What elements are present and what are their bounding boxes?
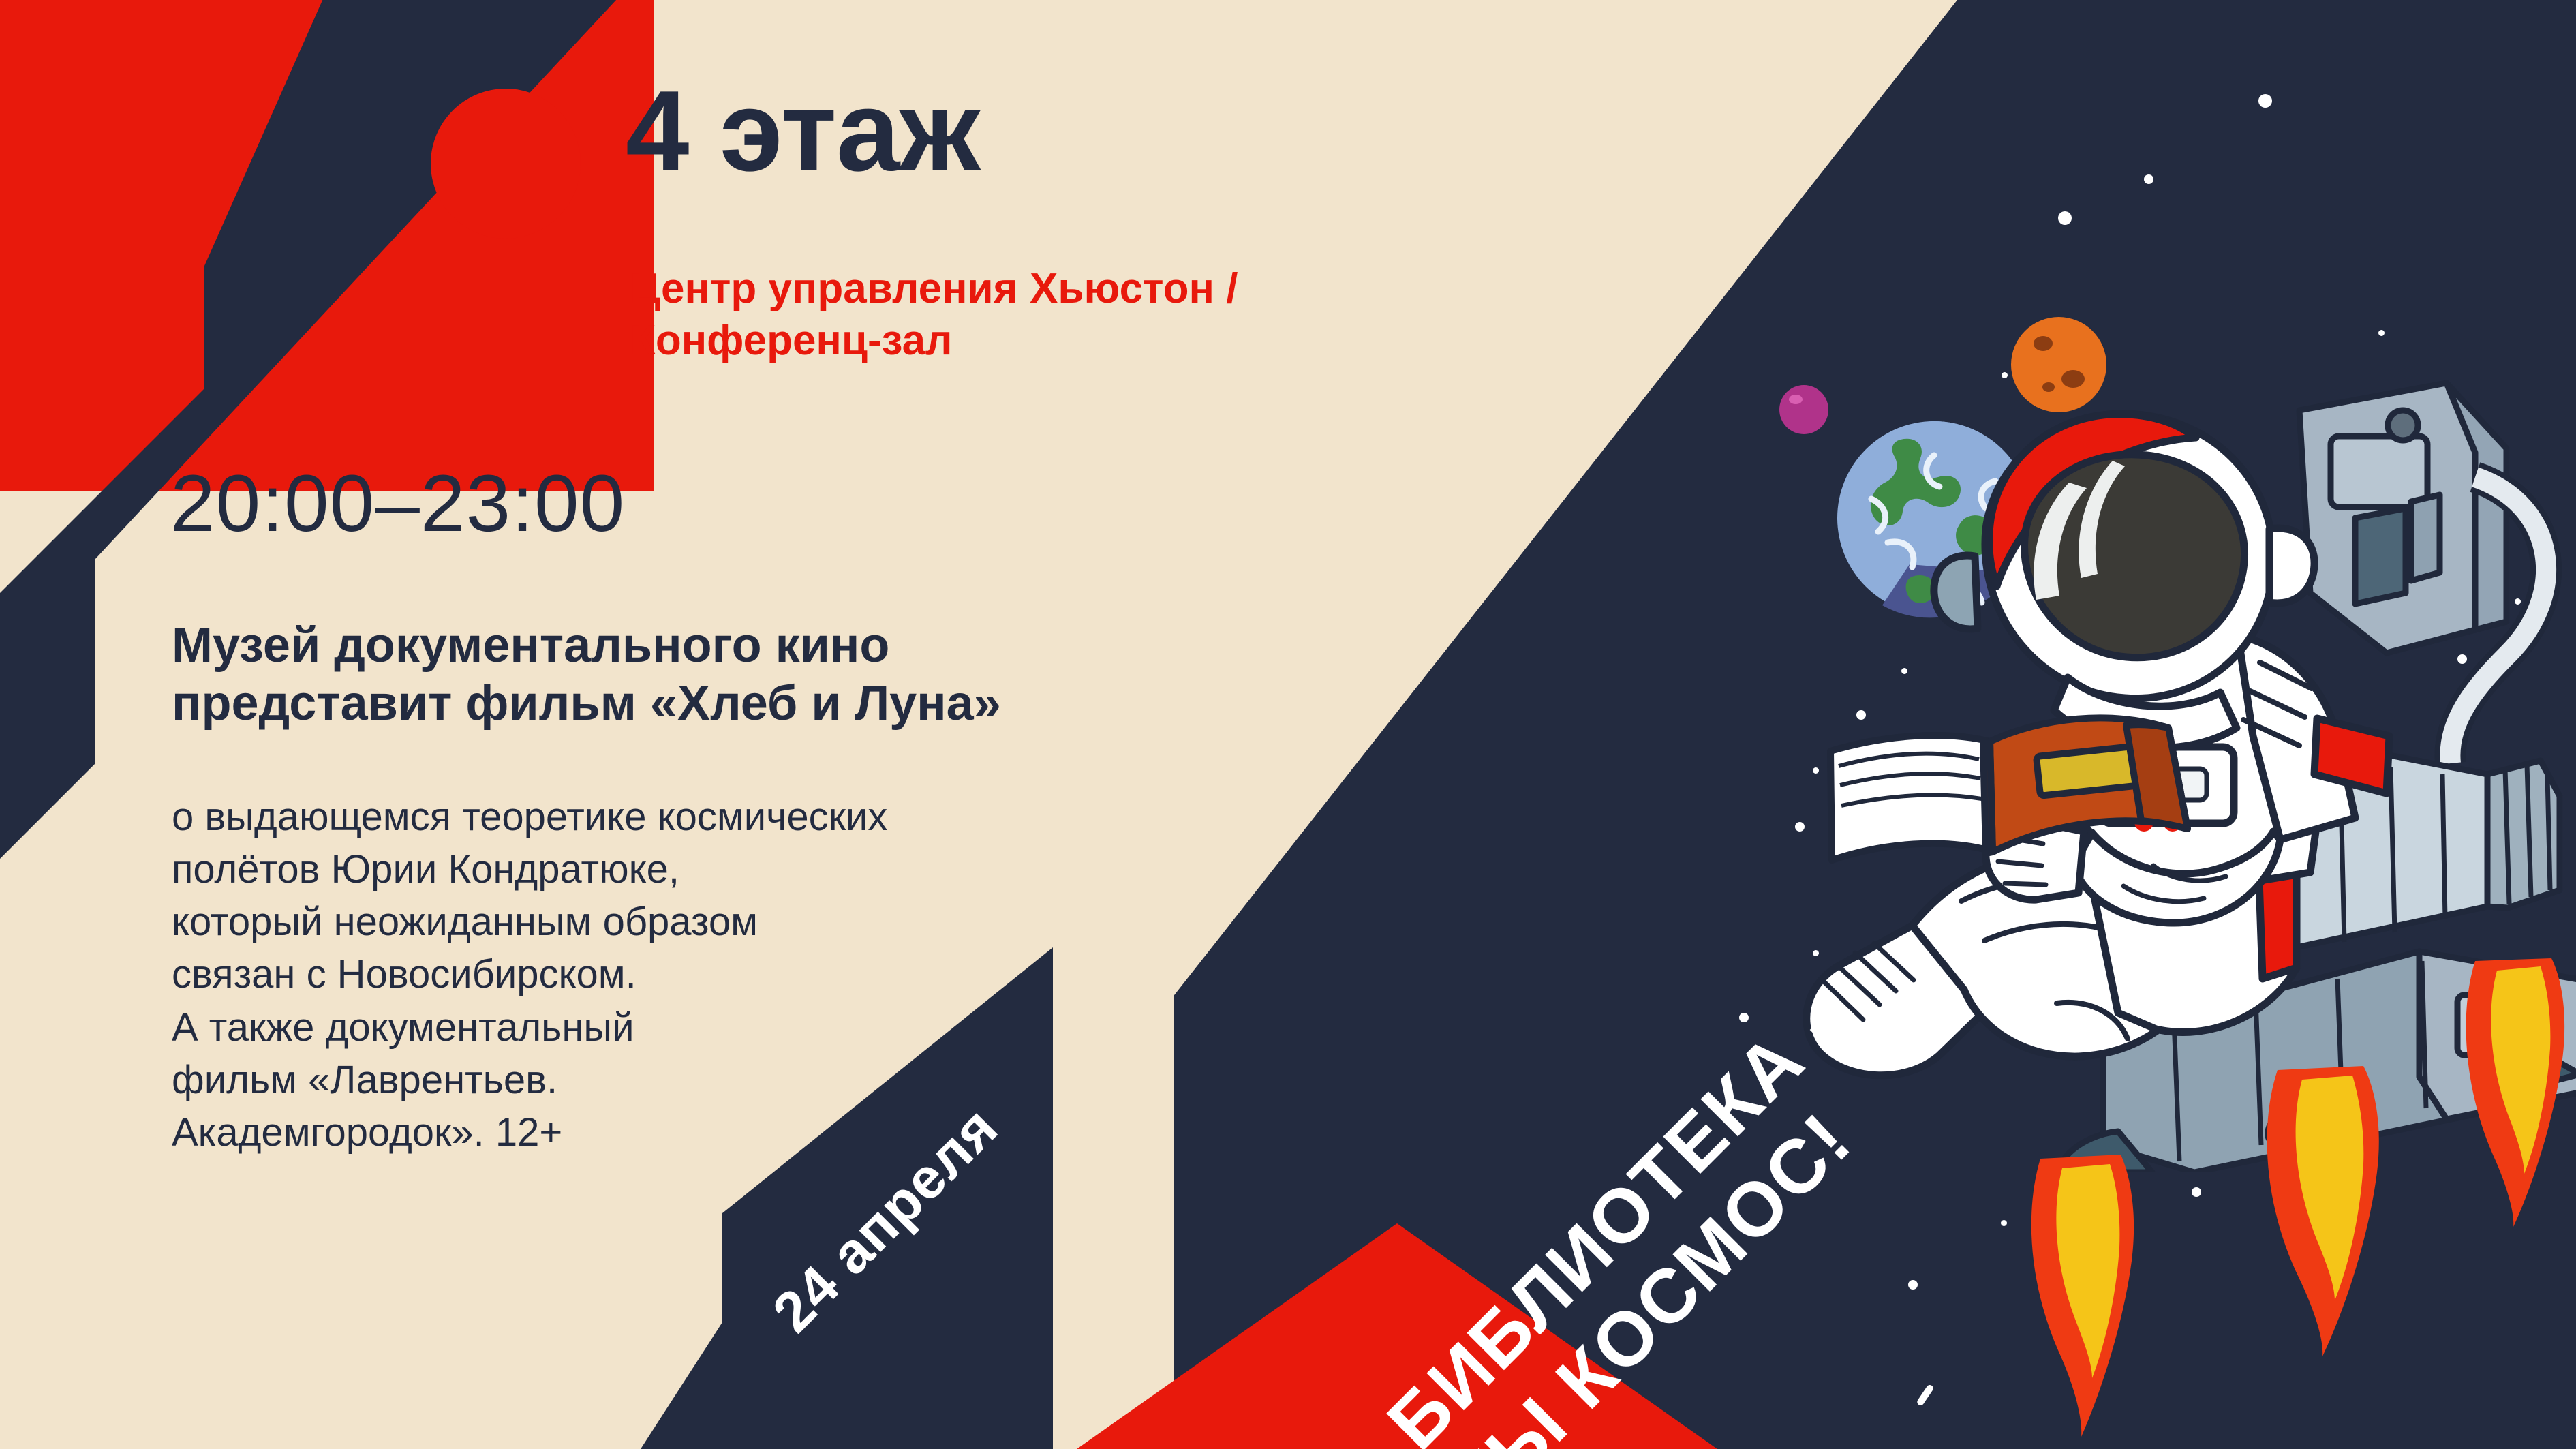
venue-subtitle: Центр управления Хьюстон / Конференц-зал [630,263,1238,366]
red-circle-accent [431,89,581,239]
star-icon [2144,174,2153,184]
star-icon [1908,1280,1918,1290]
star-icon [2378,330,2385,336]
star-icon [2258,94,2272,108]
star-icon [2001,1220,2007,1226]
event-lead-text: Музей документального кино представит фи… [172,617,1276,733]
poster-canvas: 4 этаж Центр управления Хьюстон / Конфер… [0,0,2576,1449]
page-title-floor: 4 этаж [626,74,980,188]
event-time-range: 20:00–23:00 [170,463,625,544]
book-icon [1824,686,2205,911]
star-icon [2058,211,2072,225]
thruster-left-flame-icon [2017,1152,2194,1438]
event-description-text: о выдающемся теоретике космических полёт… [172,791,1194,1159]
star-icon [1739,1013,1749,1022]
star-streak-icon [1916,1384,1934,1407]
